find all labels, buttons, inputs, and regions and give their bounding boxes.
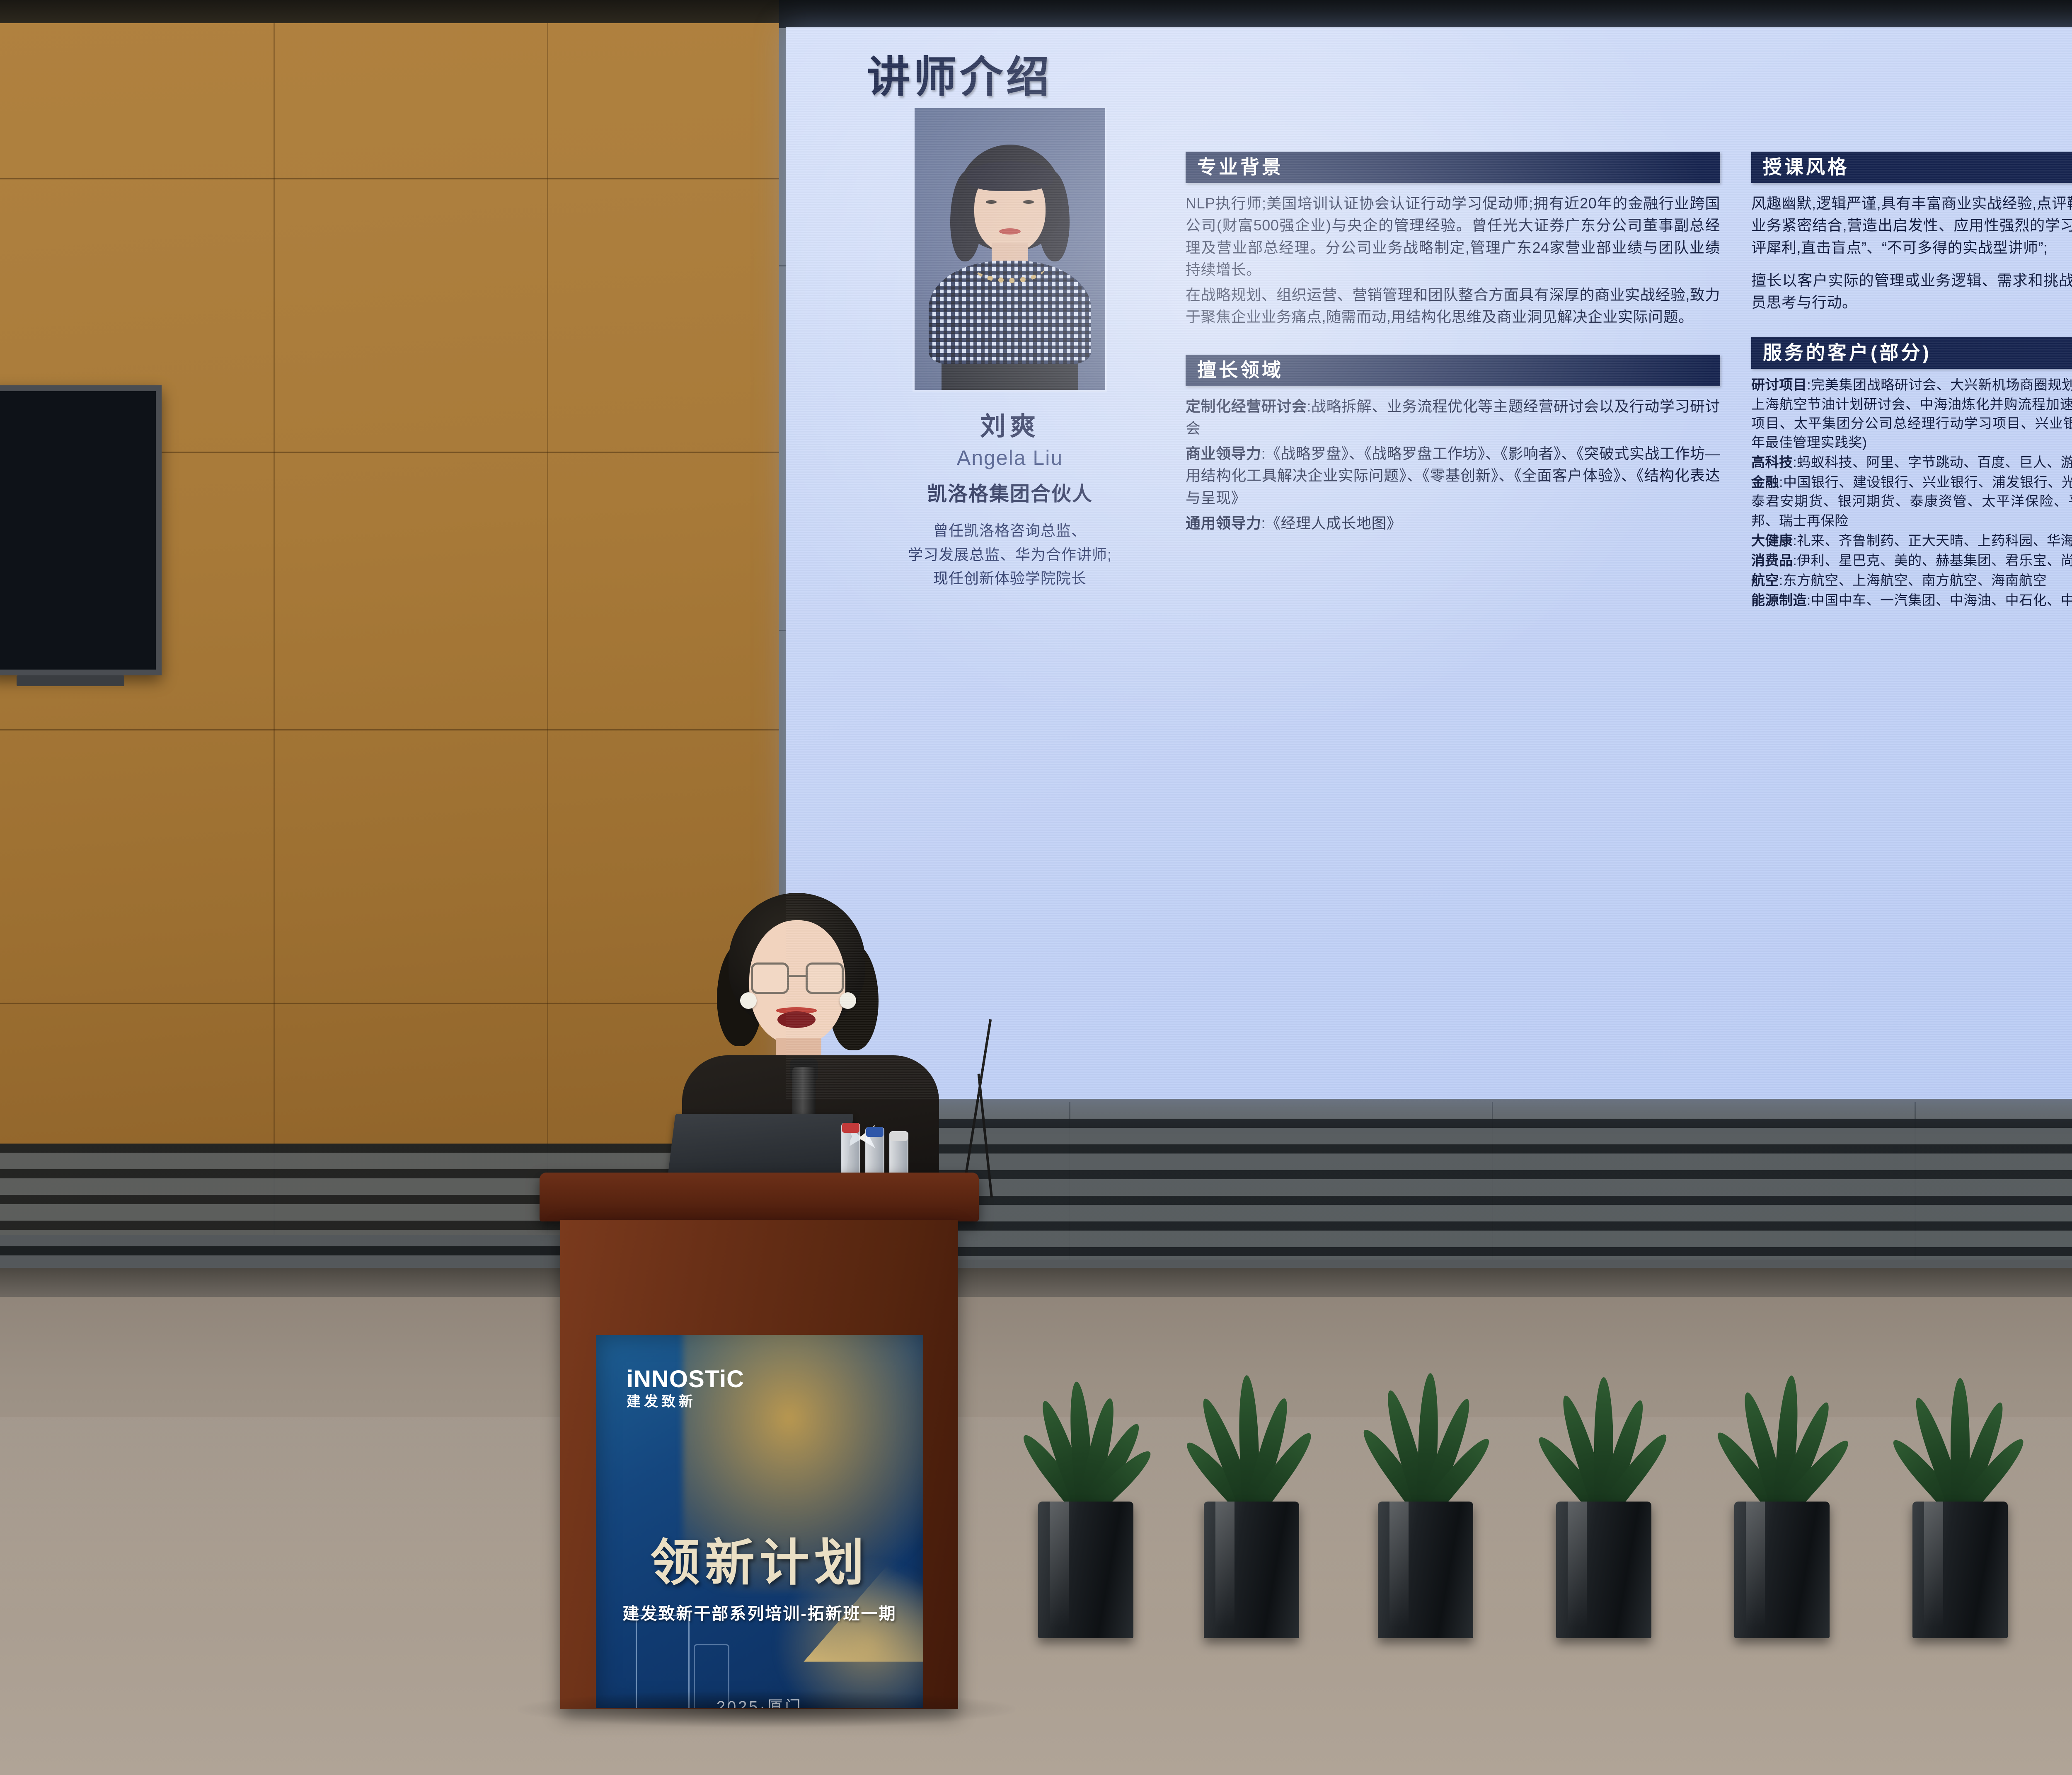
banner-title: 领新计划 xyxy=(596,1522,923,1594)
client-value: 伊利、星巴克、美的、赫基集团、君乐宝、尚品宅配 xyxy=(1797,553,2072,568)
plant-foliage xyxy=(1535,1336,1672,1514)
podium-top-surface xyxy=(540,1173,979,1221)
client-value: 礼来、齐鲁制药、正大天晴、上药科园、华海药业、联化昂健、复兴凯特 xyxy=(1797,533,2072,548)
ceiling-beam-left xyxy=(0,0,783,23)
speaker-history: 曾任凯洛格咨询总监、 学习发展总监、华为合作讲师; 现任创新体验学院院长 xyxy=(867,519,1153,590)
client-item: 消费品:伊利、星巴克、美的、赫基集团、君乐宝、尚品宅配 xyxy=(1751,551,2072,570)
client-label: 消费品 xyxy=(1751,553,1793,568)
plant-foliage xyxy=(1017,1336,1154,1514)
expertise-value: 《经理人成长地图》 xyxy=(1266,515,1402,532)
client-value: 东方航空、上海航空、南方航空、海南航空 xyxy=(1783,573,2047,588)
section-header-teaching-style: 授课风格 xyxy=(1751,152,2072,183)
pearl-earring xyxy=(740,992,757,1009)
professional-background-body: NLP执行师;美国培训认证协会认证行动学习促动师;拥有近20年的金融行业跨国公司… xyxy=(1186,192,1720,328)
plant-foliage xyxy=(1714,1336,1850,1514)
expertise-body: 定制化经营研讨会:战略拆解、业务流程优化等主题经营研讨会以及行动学习研讨会 商业… xyxy=(1186,395,1720,534)
wall-display-screen[interactable] xyxy=(0,385,162,675)
wall-display-bracket xyxy=(17,675,124,686)
client-label: 大健康 xyxy=(1751,533,1793,548)
plant-pot xyxy=(1038,1502,1133,1638)
logo-text-cn: 建发致新 xyxy=(627,1395,744,1409)
section-header-clients: 服务的客户(部分) xyxy=(1751,337,2072,369)
client-label: 金融 xyxy=(1751,474,1779,490)
expertise-item: 商业领导力:《战略罗盘》、《战略罗盘工作坊》、《影响者》、《突破式实战工作坊—用… xyxy=(1186,443,1720,509)
client-item: 能源制造:中国中车、一汽集团、中海油、中石化、中国烟草、中粮集团、吉利、岚图 xyxy=(1751,591,2072,610)
ts-paragraph-2: 擅长以客户实际的管理或业务逻辑、需求和挑战为中心,不断优化课程设计,引发学员思考… xyxy=(1751,269,2072,314)
client-item: 大健康:礼来、齐鲁制药、正大天晴、上药科园、华海药业、联化昂健、复兴凯特 xyxy=(1751,531,2072,550)
plant-pot xyxy=(1378,1502,1473,1638)
plant-pot xyxy=(1734,1502,1830,1638)
floor-baseboard xyxy=(0,1268,2072,1297)
client-value: 中国银行、建设银行、兴业银行、浦发银行、光大银行、广州证券、汇添富基金、国泰君安… xyxy=(1751,474,2072,528)
projection-screen: 讲师介绍 刘爽 Angela Liu 凯洛格集团合伙人 曾任凯洛格咨询总监、 学… xyxy=(786,27,2072,1099)
client-item: 金融:中国银行、建设银行、兴业银行、浦发银行、光大银行、广州证券、汇添富基金、国… xyxy=(1751,473,2072,530)
podium-floor-shadow xyxy=(518,1690,1015,1728)
banner-subtitle: 建发致新干部系列培训-拓新班一期 xyxy=(596,1600,923,1624)
pb-paragraph-2: 在战略规划、组织运营、营销管理和团队整合方面具有深厚的商业实战经验,致力于聚焦企… xyxy=(1186,284,1720,328)
pearl-earring xyxy=(840,992,856,1009)
pb-paragraph-1: NLP执行师;美国培训认证协会认证行动学习促动师;拥有近20年的金融行业跨国公司… xyxy=(1186,192,1720,281)
plant-pot xyxy=(1204,1502,1299,1638)
expertise-label: 定制化经营研讨会 xyxy=(1186,398,1307,415)
middle-column: 专业背景 NLP执行师;美国培训认证协会认证行动学习促动师;拥有近20年的金融行… xyxy=(1186,152,1720,537)
clients-body: 研讨项目:完美集团战略研讨会、大兴新机场商圈规划研讨会、东航非航收入提升研讨会、… xyxy=(1751,375,2072,610)
section-header-expertise: 擅长领域 xyxy=(1186,355,1720,386)
expertise-label: 通用领导力 xyxy=(1186,515,1261,532)
innostic-logo: iNNOSTiC 建发致新 xyxy=(627,1367,744,1409)
client-label: 高科技 xyxy=(1751,455,1793,470)
expertise-item: 定制化经营研讨会:战略拆解、业务流程优化等主题经营研讨会以及行动学习研讨会 xyxy=(1186,395,1720,440)
slide-title: 讲师介绍 xyxy=(867,42,1053,104)
section-header-professional-background: 专业背景 xyxy=(1186,152,1720,183)
teaching-style-body: 风趣幽默,逻辑严谨,具有丰富商业实战经验,点评鞭辟入里;能够将培训与学员的实际业… xyxy=(1751,192,2072,313)
plant-foliage xyxy=(1357,1336,1494,1514)
plant-foliage xyxy=(1892,1336,2028,1514)
conference-room-photo: 讲师介绍 刘爽 Angela Liu 凯洛格集团合伙人 曾任凯洛格咨询总监、 学… xyxy=(0,0,2072,1775)
right-column: 授课风格 风趣幽默,逻辑严谨,具有丰富商业实战经验,点评鞭辟入里;能够将培训与学… xyxy=(1751,152,2072,611)
plant-pot xyxy=(1556,1502,1651,1638)
client-label: 能源制造 xyxy=(1751,592,1807,608)
logo-text-en: iNNOSTiC xyxy=(627,1367,744,1391)
speaker-profile-column: 刘爽 Angela Liu 凯洛格集团合伙人 曾任凯洛格咨询总监、 学习发展总监… xyxy=(867,106,1153,590)
podium-banner: iNNOSTiC 建发致新 领新计划 建发致新干部系列培训-拓新班一期 2025… xyxy=(596,1335,923,1708)
client-label: 研讨项目 xyxy=(1751,377,1807,392)
client-value: 中国中车、一汽集团、中海油、中石化、中国烟草、中粮集团、吉利、岚图 xyxy=(1811,592,2072,608)
expertise-value: 《战略罗盘》、《战略罗盘工作坊》、《影响者》、《突破式实战工作坊—用结构化工具解… xyxy=(1186,445,1720,506)
speaker-role: 凯洛格集团合伙人 xyxy=(867,477,1153,506)
expertise-label: 商业领导力 xyxy=(1186,445,1261,462)
plant-foliage xyxy=(1183,1336,1320,1514)
eyeglasses-icon xyxy=(751,962,844,994)
client-value: 蚂蚁科技、阿里、字节跳动、百度、巨人、游族、平安科技、虾皮科技 xyxy=(1797,455,2072,470)
plant-pot xyxy=(1912,1502,2008,1638)
plant-foliage xyxy=(2070,1336,2072,1514)
speaker-name-en: Angela Liu xyxy=(867,446,1153,470)
client-item: 高科技:蚂蚁科技、阿里、字节跳动、百度、巨人、游族、平安科技、虾皮科技 xyxy=(1751,453,2072,472)
ceiling-beam xyxy=(779,0,2072,28)
ts-paragraph-1: 风趣幽默,逻辑严谨,具有丰富商业实战经验,点评鞭辟入里;能够将培训与学员的实际业… xyxy=(1751,192,2072,259)
speaker-name-cn: 刘爽 xyxy=(867,405,1153,443)
laptop-on-podium[interactable] xyxy=(667,1114,854,1180)
client-item: 航空:东方航空、上海航空、南方航空、海南航空 xyxy=(1751,571,2072,590)
client-label: 航空 xyxy=(1751,573,1779,588)
client-item: 研讨项目:完美集团战略研讨会、大兴新机场商圈规划研讨会、东航非航收入提升研讨会、… xyxy=(1751,375,2072,452)
speaker-portrait-photo xyxy=(913,106,1107,392)
expertise-item: 通用领导力:《经理人成长地图》 xyxy=(1186,512,1720,534)
